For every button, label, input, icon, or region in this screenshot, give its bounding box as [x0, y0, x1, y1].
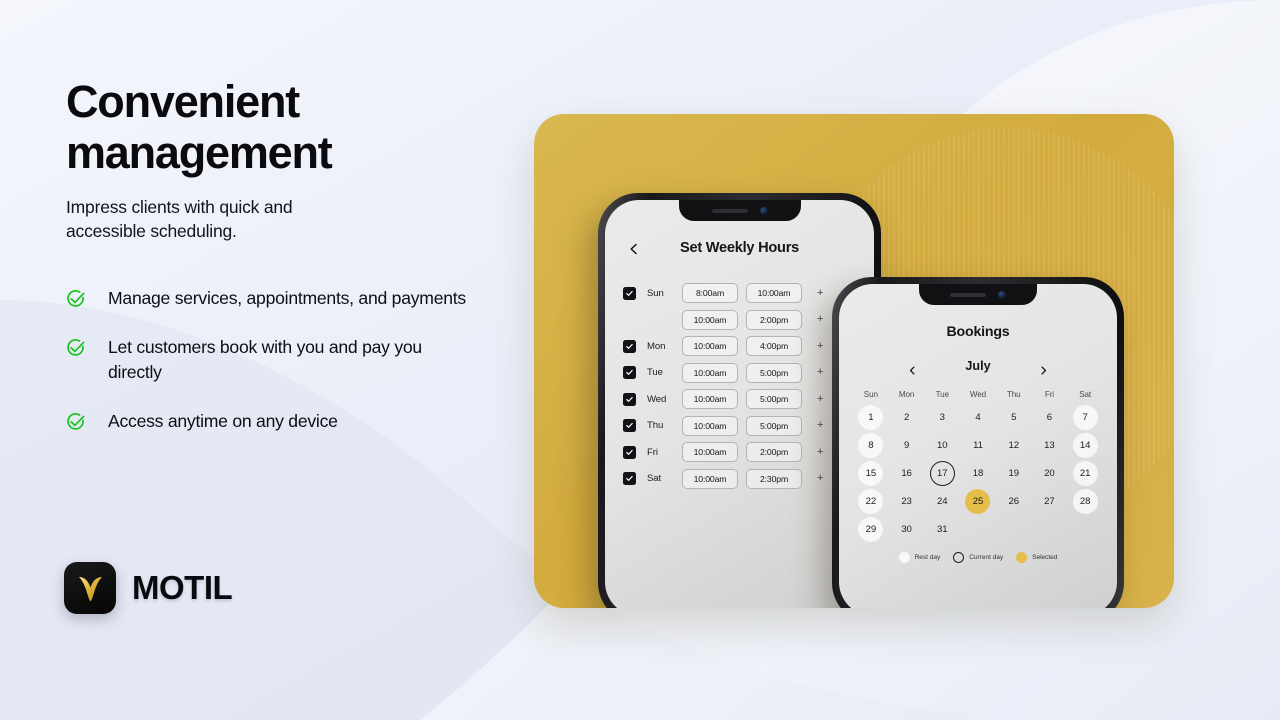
calendar-day-number[interactable]: 28: [1073, 489, 1098, 514]
weekday-label: Thu: [996, 390, 1032, 399]
screen-title: Set Weekly Hours: [680, 240, 799, 256]
end-time-pill[interactable]: 2:30pm: [746, 469, 802, 489]
day-checkbox[interactable]: [623, 287, 636, 300]
end-time-pill[interactable]: 2:00pm: [746, 310, 802, 330]
calendar-day-number[interactable]: 3: [930, 405, 955, 430]
day-label: Thu: [636, 420, 682, 431]
weekday-label: Sat: [1067, 390, 1103, 399]
chevron-left-icon[interactable]: [908, 362, 917, 371]
calendar-day-number[interactable]: 8: [858, 433, 883, 458]
add-slot-button[interactable]: +: [817, 473, 823, 484]
calendar-day-cell[interactable]: 2: [889, 405, 925, 430]
calendar-day-cell[interactable]: 24: [924, 489, 960, 514]
calendar-day-cell[interactable]: 3: [924, 405, 960, 430]
headline-line-1: Convenient: [66, 76, 299, 127]
start-time-pill[interactable]: 10:00am: [682, 442, 738, 462]
headline-line-2: management: [66, 127, 332, 178]
calendar-day-number[interactable]: 27: [1037, 489, 1062, 514]
calendar-day-cell[interactable]: 7: [1067, 405, 1103, 430]
calendar-day-number[interactable]: 15: [858, 461, 883, 486]
promo-card: Set Weekly Hours Sun 8:00am 10:00am +: [534, 114, 1174, 608]
calendar-day-cell[interactable]: 19: [996, 461, 1032, 486]
calendar-day-cell[interactable]: 17: [924, 461, 960, 486]
calendar-day-cell[interactable]: 22: [853, 489, 889, 514]
calendar-day-cell[interactable]: 14: [1067, 433, 1103, 458]
end-time-pill[interactable]: 5:00pm: [746, 416, 802, 436]
schedule-row[interactable]: Sat 10:00am 2:30pm +: [623, 469, 858, 489]
month-label: July: [965, 359, 990, 373]
calendar-day-number[interactable]: 23: [894, 489, 919, 514]
selected-day-swatch-icon: [1016, 552, 1027, 563]
calendar-day-cell[interactable]: 21: [1067, 461, 1103, 486]
day-checkbox[interactable]: [623, 419, 636, 432]
calendar-day-number[interactable]: 30: [894, 517, 919, 542]
calendar-day-cell[interactable]: 1: [853, 405, 889, 430]
schedule-row[interactable]: Tue 10:00am 5:00pm +: [623, 363, 858, 383]
chevron-right-icon[interactable]: [1039, 362, 1048, 371]
calendar-day-number[interactable]: 4: [965, 405, 990, 430]
feature-list: Manage services, appointments, and payme…: [66, 286, 506, 435]
calendar-day-number[interactable]: 6: [1037, 405, 1062, 430]
calendar-day-cell[interactable]: 11: [960, 433, 996, 458]
end-time-pill[interactable]: 10:00am: [746, 283, 802, 303]
calendar-day-number[interactable]: 7: [1073, 405, 1098, 430]
calendar-day-cell[interactable]: 16: [889, 461, 925, 486]
legend-label: Current day: [969, 554, 1003, 561]
calendar-day-number[interactable]: 22: [858, 489, 883, 514]
weekday-label: Tue: [924, 390, 960, 399]
current-day-swatch-icon: [953, 552, 964, 563]
feature-label: Let customers book with you and pay you …: [108, 335, 468, 385]
start-time-pill[interactable]: 10:00am: [682, 469, 738, 489]
calendar-day-number[interactable]: 31: [930, 517, 955, 542]
rest-day-swatch-icon: [899, 552, 910, 563]
calendar-day-cell[interactable]: 8: [853, 433, 889, 458]
calendar-day-number[interactable]: 17: [930, 461, 955, 486]
start-time-pill[interactable]: 10:00am: [682, 336, 738, 356]
screen-title: Bookings: [839, 324, 1117, 340]
front-camera-icon: [760, 207, 768, 215]
weekday-label: Mon: [889, 390, 925, 399]
feature-item: Access anytime on any device: [66, 409, 506, 434]
add-slot-button[interactable]: +: [817, 447, 823, 458]
phone-notch: [919, 284, 1037, 305]
calendar-day-cell[interactable]: 30: [889, 517, 925, 542]
hero-text-column: Convenient management Impress clients wi…: [66, 76, 506, 434]
day-checkbox[interactable]: [623, 393, 636, 406]
feature-label: Access anytime on any device: [108, 409, 338, 434]
front-camera-icon: [998, 291, 1006, 299]
add-slot-button[interactable]: +: [817, 314, 823, 325]
phone-notch: [679, 200, 801, 221]
calendar-legend: Rest day Current day Selected: [839, 552, 1117, 563]
check-circle-icon: [66, 289, 86, 309]
calendar-day-number[interactable]: 14: [1073, 433, 1098, 458]
add-slot-button[interactable]: +: [817, 288, 823, 299]
day-label: Mon: [636, 341, 682, 352]
calendar-day-number[interactable]: 9: [894, 433, 919, 458]
end-time-pill[interactable]: 5:00pm: [746, 363, 802, 383]
weekday-label: Wed: [960, 390, 996, 399]
day-checkbox[interactable]: [623, 366, 636, 379]
calendar-day-cell[interactable]: 4: [960, 405, 996, 430]
check-circle-icon: [66, 338, 86, 358]
page-title: Convenient management: [66, 76, 506, 179]
calendar-day-number[interactable]: 24: [930, 489, 955, 514]
feature-item: Let customers book with you and pay you …: [66, 335, 506, 385]
end-time-pill[interactable]: 4:00pm: [746, 336, 802, 356]
phone-mockup-bookings: Bookings July Sun: [832, 277, 1124, 608]
bookings-screen: Bookings July Sun: [839, 284, 1117, 608]
day-checkbox[interactable]: [623, 340, 636, 353]
calendar-day-number[interactable]: 2: [894, 405, 919, 430]
add-slot-button[interactable]: +: [817, 420, 823, 431]
day-checkbox-placeholder: [623, 313, 636, 326]
calendar-day-cell[interactable]: 5: [996, 405, 1032, 430]
day-label: Sat: [636, 473, 682, 484]
schedule-row[interactable]: Thu 10:00am 5:00pm +: [623, 416, 858, 436]
start-time-pill[interactable]: 10:00am: [682, 310, 738, 330]
month-navigation: July: [839, 359, 1117, 373]
schedule-row[interactable]: 10:00am 2:00pm +: [623, 310, 858, 330]
start-time-pill[interactable]: 10:00am: [682, 389, 738, 409]
motil-v-logo-icon: [64, 562, 116, 614]
end-time-pill[interactable]: 5:00pm: [746, 389, 802, 409]
calendar-day-cell[interactable]: 12: [996, 433, 1032, 458]
day-checkbox[interactable]: [623, 446, 636, 459]
legend-label: Rest day: [915, 554, 941, 561]
calendar-day-number[interactable]: 1: [858, 405, 883, 430]
calendar-day-number[interactable]: 12: [1001, 433, 1026, 458]
start-time-pill[interactable]: 10:00am: [682, 363, 738, 383]
calendar-day-cell[interactable]: 28: [1067, 489, 1103, 514]
legend-item-current-day: Current day: [953, 552, 1003, 563]
day-label: Sun: [636, 288, 682, 299]
legend-item-selected: Selected: [1016, 552, 1057, 563]
end-time-pill[interactable]: 2:00pm: [746, 442, 802, 462]
calendar-day-number[interactable]: 21: [1073, 461, 1098, 486]
legend-label: Selected: [1032, 554, 1057, 561]
calendar-day-cell[interactable]: 18: [960, 461, 996, 486]
calendar-day-cell[interactable]: 13: [1032, 433, 1068, 458]
add-slot-button[interactable]: +: [817, 394, 823, 405]
calendar-day-cell[interactable]: 23: [889, 489, 925, 514]
day-label: Fri: [636, 447, 682, 458]
calendar-day-number[interactable]: 13: [1037, 433, 1062, 458]
feature-item: Manage services, appointments, and payme…: [66, 286, 506, 311]
calendar-day-cell[interactable]: 26: [996, 489, 1032, 514]
calendar-day-number[interactable]: 19: [1001, 461, 1026, 486]
calendar-day-number[interactable]: 20: [1037, 461, 1062, 486]
add-slot-button[interactable]: +: [817, 367, 823, 378]
day-label: Tue: [636, 367, 682, 378]
schedule-row[interactable]: Sun 8:00am 10:00am +: [623, 283, 858, 303]
chevron-left-icon[interactable]: [628, 242, 640, 254]
calendar-day-number[interactable]: 5: [1001, 405, 1026, 430]
calendar-day-number[interactable]: 29: [858, 517, 883, 542]
schedule-row[interactable]: Wed 10:00am 5:00pm +: [623, 389, 858, 409]
calendar-day-cell[interactable]: 29: [853, 517, 889, 542]
weekday-label: Sun: [853, 390, 889, 399]
schedule-row[interactable]: Fri 10:00am 2:00pm +: [623, 442, 858, 462]
calendar-day-number[interactable]: 25: [965, 489, 990, 514]
calendar-day-grid: 1234567891011121314151617181920212223242…: [839, 405, 1117, 542]
calendar-day-cell[interactable]: 10: [924, 433, 960, 458]
speaker-icon: [712, 209, 748, 213]
day-checkbox[interactable]: [623, 472, 636, 485]
brand-logo: MOTIL: [64, 562, 232, 614]
calendar-day-cell[interactable]: 15: [853, 461, 889, 486]
legend-item-rest-day: Rest day: [899, 552, 941, 563]
calendar-day-cell[interactable]: 25: [960, 489, 996, 514]
calendar-day-number[interactable]: 11: [965, 433, 990, 458]
check-circle-icon: [66, 412, 86, 432]
feature-label: Manage services, appointments, and payme…: [108, 286, 466, 311]
calendar-day-cell[interactable]: 6: [1032, 405, 1068, 430]
calendar-day-cell[interactable]: 20: [1032, 461, 1068, 486]
phone-screen-bookings: Bookings July Sun: [839, 284, 1117, 608]
speaker-icon: [950, 293, 986, 297]
brand-wordmark: MOTIL: [132, 569, 232, 607]
add-slot-button[interactable]: +: [817, 341, 823, 352]
start-time-pill[interactable]: 10:00am: [682, 416, 738, 436]
weekly-hours-topbar: Set Weekly Hours: [605, 231, 874, 265]
calendar-day-cell[interactable]: 31: [924, 517, 960, 542]
start-time-pill[interactable]: 8:00am: [682, 283, 738, 303]
calendar-day-number[interactable]: 10: [930, 433, 955, 458]
calendar-day-cell[interactable]: 27: [1032, 489, 1068, 514]
calendar-day-number[interactable]: 18: [965, 461, 990, 486]
weekday-header-row: Sun Mon Tue Wed Thu Fri Sat: [839, 390, 1117, 399]
page-subtitle: Impress clients with quick and accessibl…: [66, 196, 366, 244]
weekday-label: Fri: [1032, 390, 1068, 399]
calendar-day-number[interactable]: 26: [1001, 489, 1026, 514]
calendar-day-cell[interactable]: 9: [889, 433, 925, 458]
day-label: Wed: [636, 394, 682, 405]
schedule-row[interactable]: Mon 10:00am 4:00pm +: [623, 336, 858, 356]
calendar-day-number[interactable]: 16: [894, 461, 919, 486]
